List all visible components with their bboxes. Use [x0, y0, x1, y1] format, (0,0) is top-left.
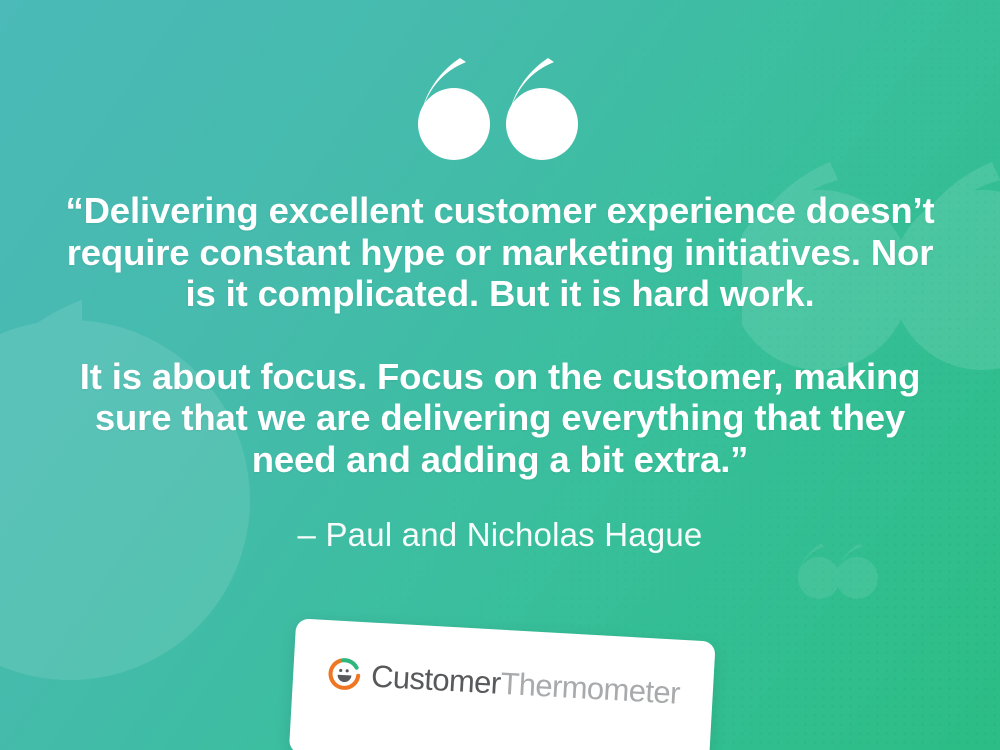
quote-text-block: “Delivering excellent customer experienc… [50, 190, 950, 480]
quote-paragraph-1: “Delivering excellent customer experienc… [50, 190, 950, 315]
logo-card: CustomerThermometer [289, 618, 716, 750]
customer-thermometer-smiley-icon [325, 655, 363, 693]
logo-word-customer: Customer [370, 658, 501, 700]
quote-graphic-canvas: “Delivering excellent customer experienc… [0, 0, 1000, 750]
logo-word-thermometer: Thermometer [500, 665, 681, 710]
quote-attribution: – Paul and Nicholas Hague [50, 514, 950, 556]
double-quote-mark-icon [418, 56, 584, 168]
customer-thermometer-logo: CustomerThermometer [325, 655, 680, 711]
quote-paragraph-2: It is about focus. Focus on the customer… [50, 356, 950, 481]
logo-wordmark: CustomerThermometer [370, 660, 680, 708]
